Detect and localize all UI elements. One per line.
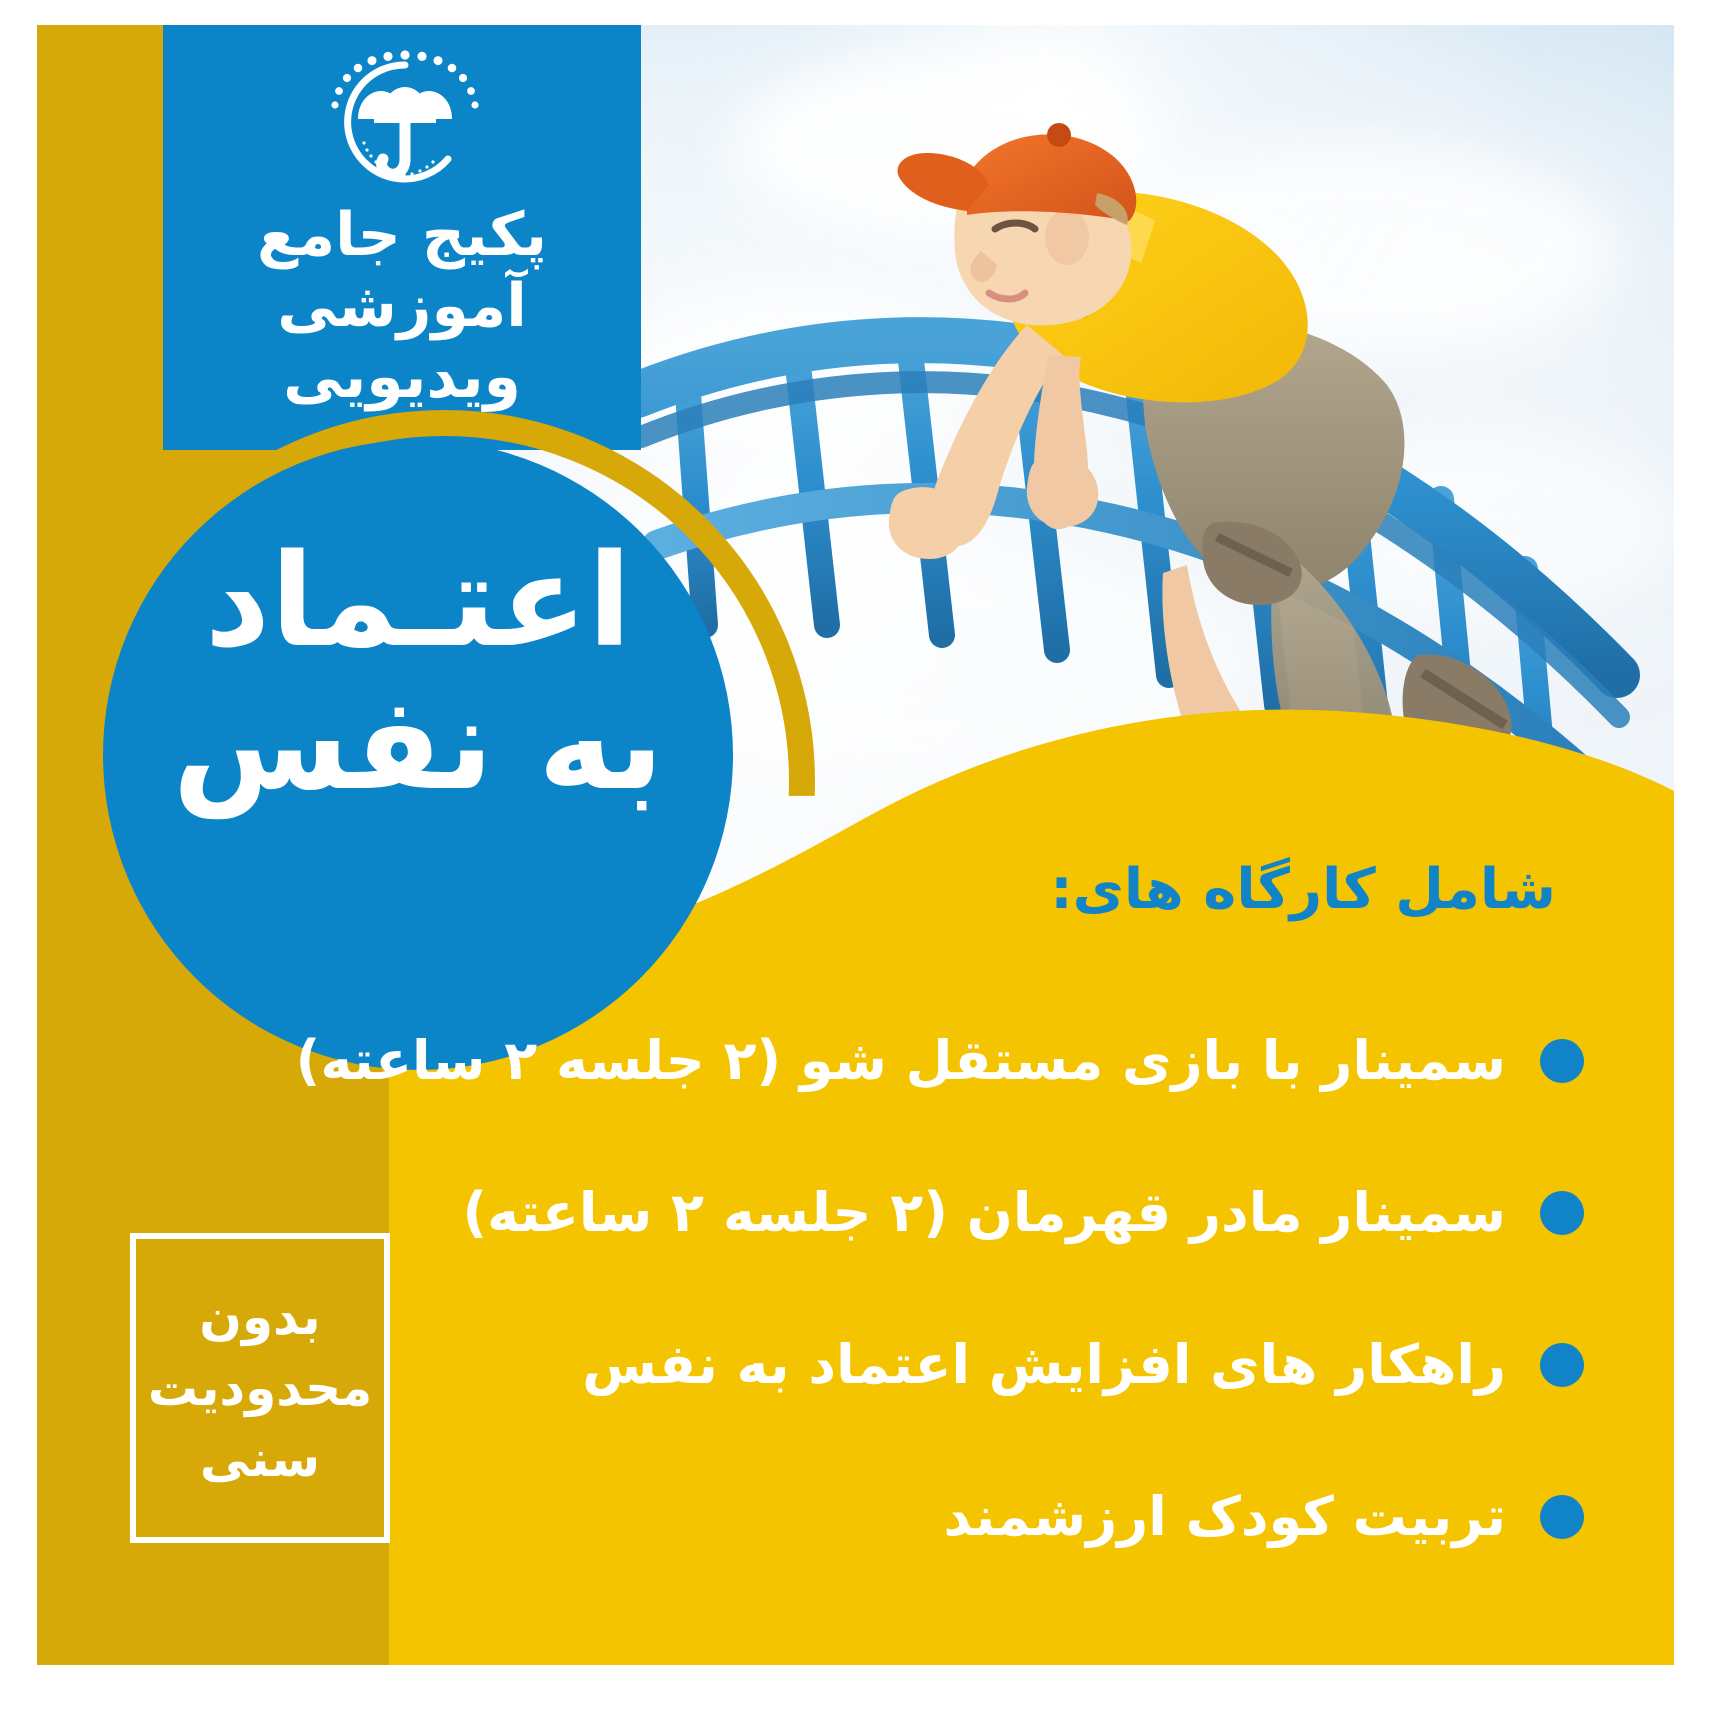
workshop-text: تربیت کودک ارزشمند <box>504 1486 1506 1548</box>
poster-root: پکیج جامع آموزشی ویدیویی اعتـماد به نفس … <box>0 0 1712 1713</box>
age-box-line2: محدودیت <box>148 1353 372 1424</box>
bullet-dot-icon <box>1540 1039 1584 1083</box>
bullet-dot-icon <box>1540 1191 1584 1235</box>
list-item: راهکار های افزایش اعتماد به نفس <box>504 1289 1584 1441</box>
bullet-dot-icon <box>1540 1343 1584 1387</box>
main-title-line2: به نفس <box>123 673 713 816</box>
poster-canvas: پکیج جامع آموزشی ویدیویی اعتـماد به نفس … <box>37 25 1674 1665</box>
main-title: اعتـماد به نفس <box>123 530 713 817</box>
list-item: تربیت کودک ارزشمند <box>504 1441 1584 1593</box>
workshop-text: راهکار های افزایش اعتماد به نفس <box>504 1334 1506 1396</box>
workshop-text: سمینار با بازی مستقل شو (۲ جلسه ۲ ساعته) <box>296 1030 1506 1092</box>
list-item: سمینار با بازی مستقل شو (۲ جلسه ۲ ساعته) <box>504 985 1584 1137</box>
header-title-line1: پکیج جامع <box>167 200 637 271</box>
age-box-line1: بدون <box>199 1282 320 1353</box>
age-box-line3: سنی <box>200 1424 320 1495</box>
age-limit-box: بدون محدودیت سنی <box>130 1233 390 1543</box>
bullet-dot-icon <box>1540 1495 1584 1539</box>
main-title-line1: اعتـماد <box>123 530 713 673</box>
list-item: سمینار مادر قهرمان (۲ جلسه ۲ ساعته) <box>504 1137 1584 1289</box>
workshop-text: سمینار مادر قهرمان (۲ جلسه ۲ ساعته) <box>463 1182 1507 1244</box>
includes-label: شامل کارگاه های: <box>1050 857 1556 922</box>
workshop-list: سمینار با بازی مستقل شو (۲ جلسه ۲ ساعته)… <box>504 985 1584 1593</box>
header-title: پکیج جامع آموزشی ویدیویی <box>167 200 637 412</box>
umbrella-logo-icon <box>330 47 480 197</box>
header-title-line2: آموزشی ویدیویی <box>167 271 637 413</box>
